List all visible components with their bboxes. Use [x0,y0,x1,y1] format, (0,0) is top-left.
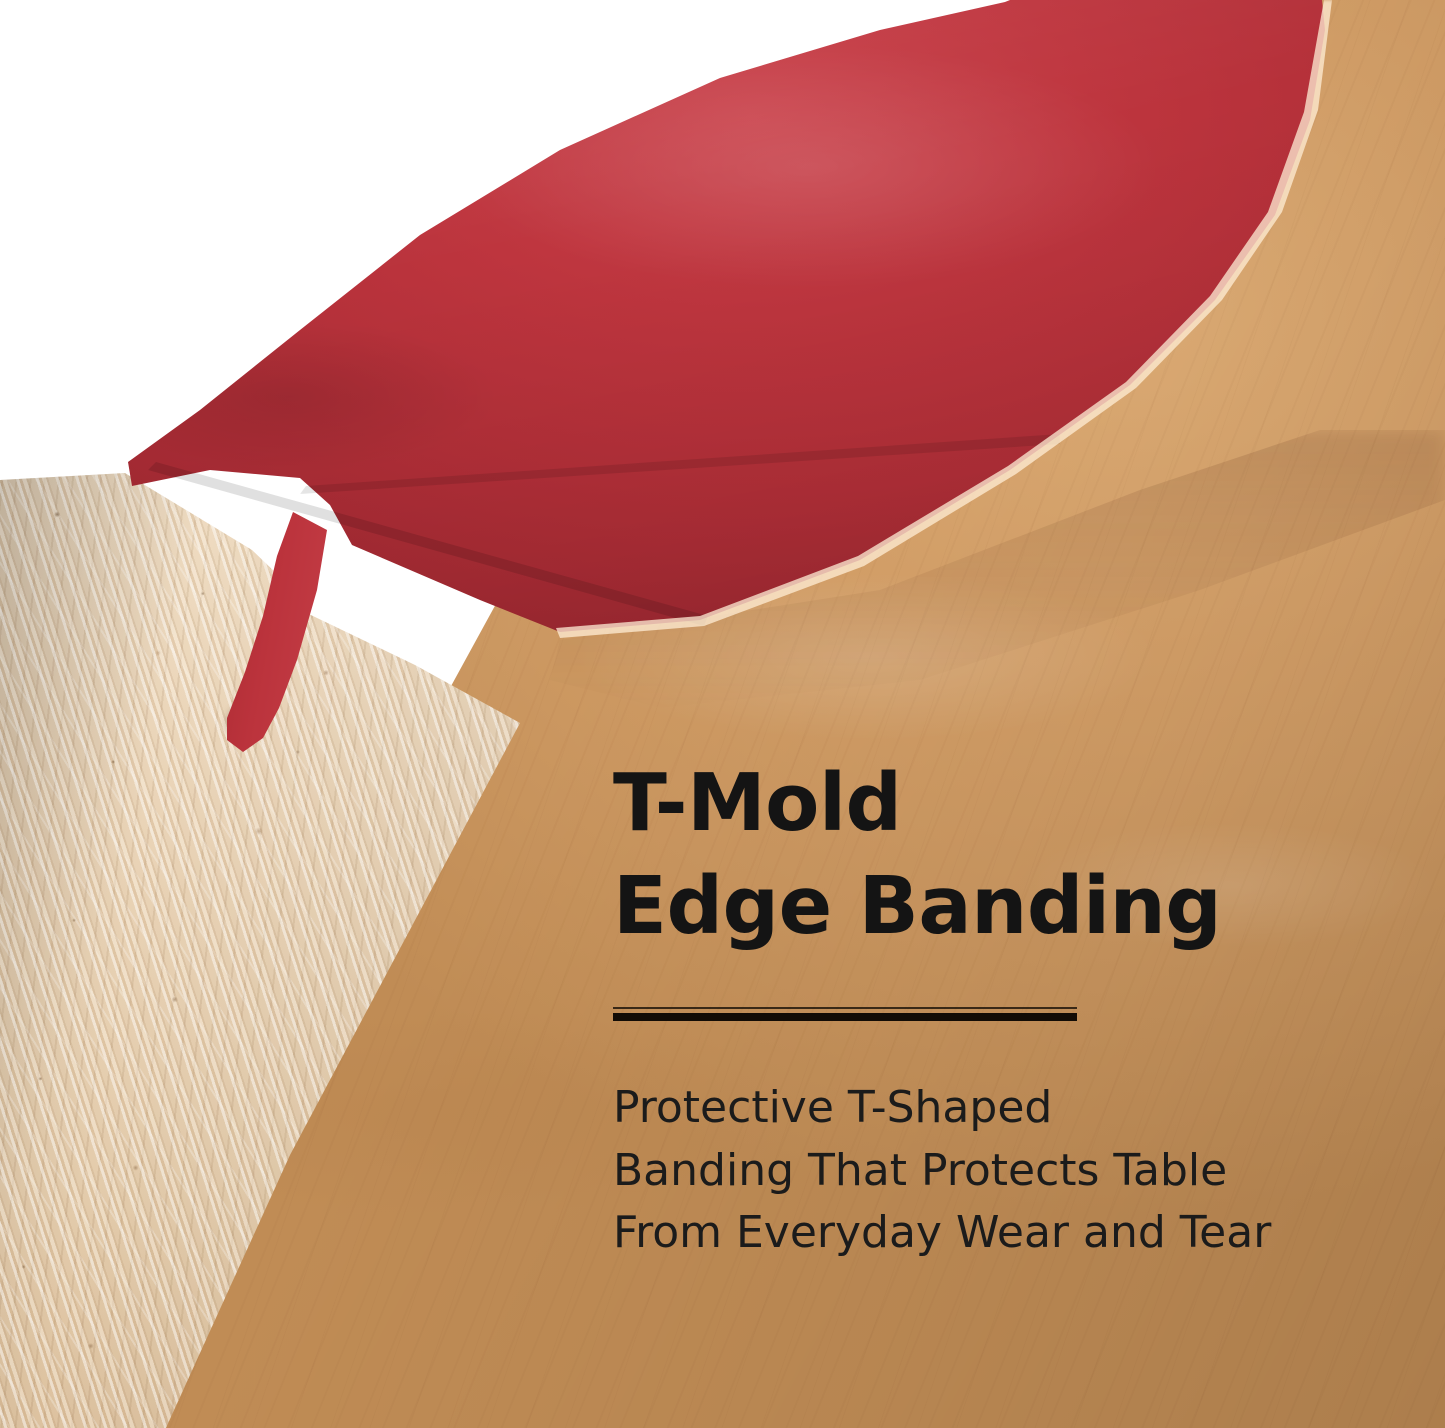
divider-thick-rule [613,1013,1077,1021]
double-rule-divider [613,1007,1077,1021]
subheadline: Protective T-Shaped Banding That Protect… [613,1077,1373,1264]
divider-thin-rule [613,1007,1077,1009]
product-infographic: T-Mold Edge Banding Protective T-Shaped … [0,0,1445,1428]
headline: T-Mold Edge Banding [613,752,1373,957]
copy-block: T-Mold Edge Banding Protective T-Shaped … [613,752,1373,1265]
